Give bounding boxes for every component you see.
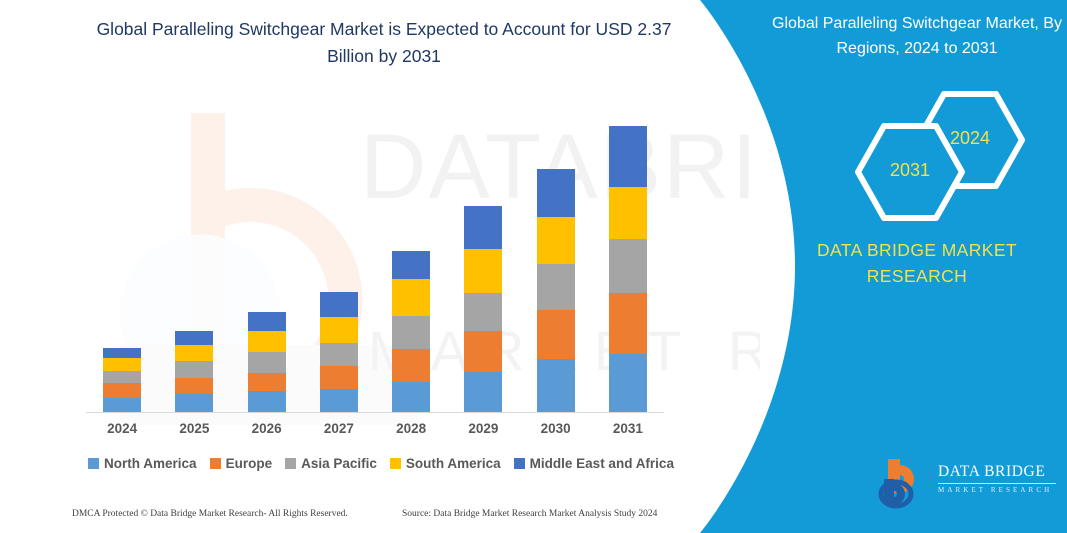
bar-segment[interactable] bbox=[392, 382, 430, 413]
bar-segment[interactable] bbox=[609, 239, 647, 294]
bar-segment[interactable] bbox=[464, 206, 502, 249]
bar-segment[interactable] bbox=[537, 264, 575, 309]
bar-segment[interactable] bbox=[320, 317, 358, 343]
bar-segment[interactable] bbox=[320, 292, 358, 317]
legend-item[interactable]: Middle East and Africa bbox=[514, 456, 674, 471]
legend-item[interactable]: North America bbox=[88, 456, 197, 471]
hexagon-pair: 2024 2031 bbox=[850, 88, 1030, 208]
dbmr-logo-subtitle: MARKET RESEARCH bbox=[938, 486, 1063, 494]
bar-segment[interactable] bbox=[320, 343, 358, 366]
legend-swatch-icon bbox=[285, 458, 296, 469]
bar-segment[interactable] bbox=[392, 316, 430, 349]
bar-segment[interactable] bbox=[392, 251, 430, 279]
brand-panel-title: Global Paralleling Switchgear Market, By… bbox=[772, 12, 1062, 62]
bar-segment[interactable] bbox=[175, 331, 213, 344]
infographic-root: DATABRIDGE MARKET RESEARCH Global Parall… bbox=[0, 0, 1067, 533]
brand-tagline-line1: DATA BRIDGE MARKET bbox=[780, 237, 1054, 263]
bar-2026[interactable] bbox=[248, 312, 286, 413]
x-axis-label-2030: 2030 bbox=[521, 421, 591, 436]
bar-segment[interactable] bbox=[103, 371, 141, 383]
bar-segment[interactable] bbox=[103, 358, 141, 370]
bar-2029[interactable] bbox=[464, 206, 502, 413]
hexagon-2031-label: 2031 bbox=[885, 160, 935, 181]
bar-segment[interactable] bbox=[537, 310, 575, 360]
x-axis-label-2027: 2027 bbox=[304, 421, 374, 436]
bar-2024[interactable] bbox=[103, 348, 141, 413]
bar-segment[interactable] bbox=[103, 348, 141, 358]
legend-swatch-icon bbox=[514, 458, 525, 469]
x-axis-line bbox=[86, 412, 664, 413]
legend-swatch-icon bbox=[390, 458, 401, 469]
bar-segment[interactable] bbox=[175, 394, 213, 413]
chart-plot-area bbox=[86, 100, 664, 413]
brand-tagline-line2: RESEARCH bbox=[780, 263, 1054, 289]
bar-segment[interactable] bbox=[320, 366, 358, 390]
bar-segment[interactable] bbox=[609, 187, 647, 239]
bar-segment[interactable] bbox=[609, 126, 647, 187]
x-axis-label-2028: 2028 bbox=[376, 421, 446, 436]
bar-2025[interactable] bbox=[175, 331, 213, 413]
bar-segment[interactable] bbox=[464, 249, 502, 293]
bar-segment[interactable] bbox=[175, 345, 213, 362]
legend-label: Middle East and Africa bbox=[530, 456, 674, 471]
bar-segment[interactable] bbox=[175, 378, 213, 395]
bar-segment[interactable] bbox=[248, 391, 286, 413]
dbmr-logo-rule bbox=[938, 483, 1056, 484]
legend-label: South America bbox=[406, 456, 501, 471]
bar-segment[interactable] bbox=[537, 217, 575, 264]
x-axis-label-2031: 2031 bbox=[593, 421, 663, 436]
bar-segment[interactable] bbox=[537, 169, 575, 216]
bar-segment[interactable] bbox=[464, 372, 502, 413]
footer-source: Source: Data Bridge Market Research Mark… bbox=[402, 509, 657, 519]
chart-legend: North AmericaEuropeAsia PacificSouth Ame… bbox=[86, 456, 676, 471]
footer: DMCA Protected © Data Bridge Market Rese… bbox=[0, 509, 740, 529]
x-axis-label-2029: 2029 bbox=[448, 421, 518, 436]
bar-segment[interactable] bbox=[248, 373, 286, 392]
legend-swatch-icon bbox=[88, 458, 99, 469]
legend-label: Europe bbox=[226, 456, 273, 471]
legend-item[interactable]: Europe bbox=[210, 456, 273, 471]
bar-segment[interactable] bbox=[248, 331, 286, 352]
chart-panel: DATABRIDGE MARKET RESEARCH Global Parall… bbox=[0, 0, 760, 533]
bar-segment[interactable] bbox=[464, 293, 502, 331]
x-axis-label-2026: 2026 bbox=[232, 421, 302, 436]
x-axis-labels: 20242025202620272028202920302031 bbox=[86, 421, 664, 443]
bar-segment[interactable] bbox=[464, 331, 502, 371]
bar-segment[interactable] bbox=[248, 352, 286, 373]
bar-2028[interactable] bbox=[392, 251, 430, 413]
bar-2030[interactable] bbox=[537, 169, 575, 413]
bar-segment[interactable] bbox=[392, 349, 430, 382]
bar-segment[interactable] bbox=[103, 383, 141, 397]
dbmr-logo: DATA BRIDGE MARKET RESEARCH bbox=[878, 455, 1063, 513]
bar-segment[interactable] bbox=[537, 359, 575, 413]
bar-segment[interactable] bbox=[248, 312, 286, 332]
bar-2027[interactable] bbox=[320, 292, 358, 413]
bar-2031[interactable] bbox=[609, 126, 647, 413]
bar-segment[interactable] bbox=[609, 354, 647, 413]
bar-segment[interactable] bbox=[175, 361, 213, 378]
bar-segment[interactable] bbox=[392, 279, 430, 316]
bar-segment[interactable] bbox=[320, 389, 358, 413]
dbmr-logo-text: DATA BRIDGE MARKET RESEARCH bbox=[938, 463, 1063, 494]
footer-copyright: DMCA Protected © Data Bridge Market Rese… bbox=[72, 509, 348, 519]
legend-label: North America bbox=[104, 456, 197, 471]
brand-panel: Global Paralleling Switchgear Market, By… bbox=[760, 0, 1067, 533]
legend-swatch-icon bbox=[210, 458, 221, 469]
bar-segment[interactable] bbox=[609, 293, 647, 354]
dbmr-logo-name: DATA BRIDGE bbox=[938, 463, 1063, 481]
legend-item[interactable]: Asia Pacific bbox=[285, 456, 377, 471]
legend-label: Asia Pacific bbox=[301, 456, 377, 471]
x-axis-label-2025: 2025 bbox=[159, 421, 229, 436]
x-axis-label-2024: 2024 bbox=[87, 421, 157, 436]
dbmr-logo-mark-icon bbox=[878, 455, 936, 509]
page-title: Global Paralleling Switchgear Market is … bbox=[74, 16, 694, 70]
legend-item[interactable]: South America bbox=[390, 456, 501, 471]
bar-segment[interactable] bbox=[103, 398, 141, 413]
brand-tagline: DATA BRIDGE MARKET RESEARCH bbox=[780, 237, 1054, 290]
